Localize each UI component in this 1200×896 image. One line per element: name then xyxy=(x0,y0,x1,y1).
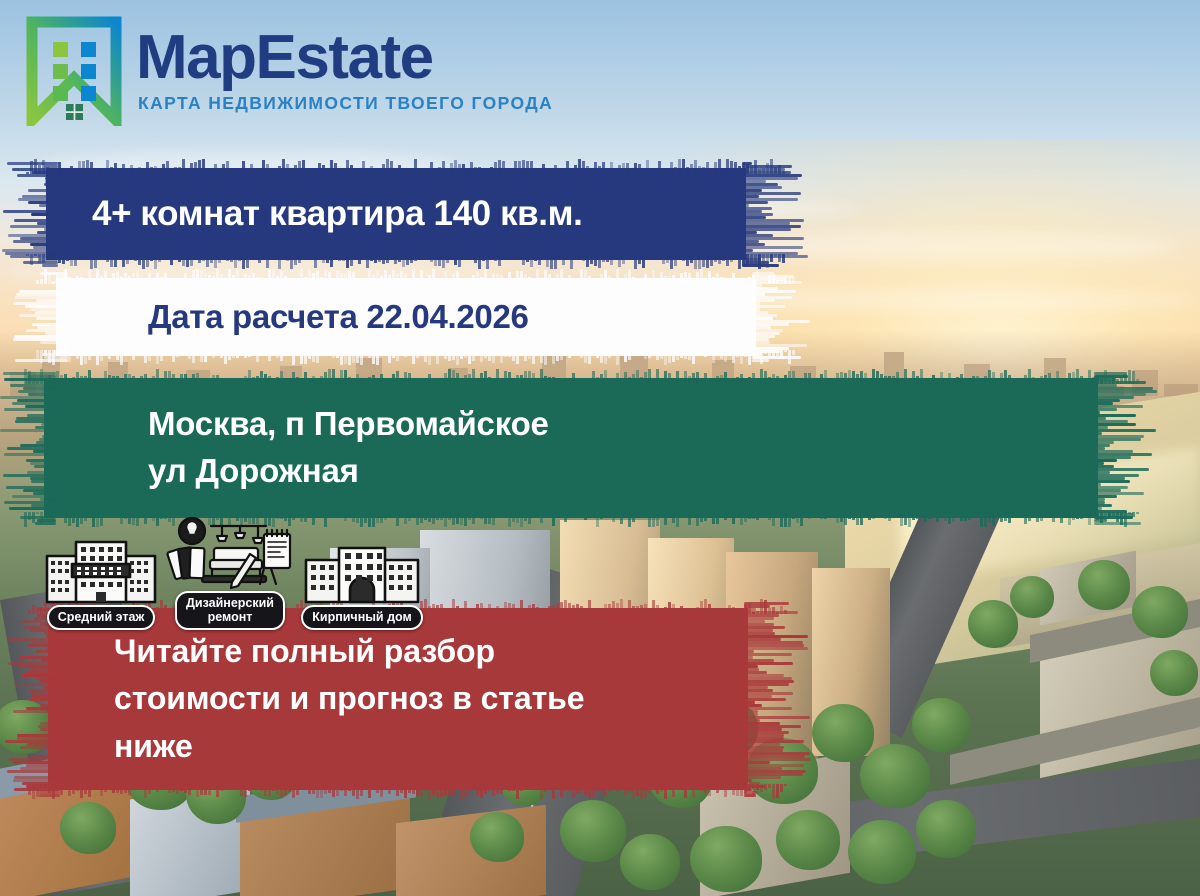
badge-label: Кирпичный дом xyxy=(301,605,422,630)
brush-fray-top xyxy=(36,266,796,284)
banner-text: Дата расчета 22.04.2026 xyxy=(56,298,756,336)
location-line-1: Москва, п Первомайское xyxy=(148,401,1098,448)
banner-call-to-action: Читайте полный разбор стоимости и прогно… xyxy=(48,608,748,790)
brick-building-icon xyxy=(300,534,424,611)
banner-text: 4+ комнат квартира 140 кв.м. xyxy=(46,194,746,234)
brush-fray-top xyxy=(24,366,1138,384)
brush-fray-bottom xyxy=(28,784,788,802)
poster-canvas: MapEstate КАРТА НЕДВИЖИМОСТИ ТВОЕГО ГОРО… xyxy=(0,0,1200,896)
brand-text: MapEstate КАРТА НЕДВИЖИМОСТИ ТВОЕГО ГОРО… xyxy=(136,28,553,114)
badge-house-type: Кирпичный дом xyxy=(300,534,424,630)
brand-title: MapEstate xyxy=(136,28,553,88)
brush-fray-right xyxy=(742,168,812,260)
banner-property-summary: 4+ комнат квартира 140 кв.м. xyxy=(46,168,746,260)
brand-logo[interactable]: MapEstate КАРТА НЕДВИЖИМОСТИ ТВОЕГО ГОРО… xyxy=(26,16,553,126)
brush-fray-right xyxy=(744,608,814,790)
bookmark-building-icon xyxy=(26,16,122,126)
brush-fray-top xyxy=(26,156,786,174)
header: MapEstate КАРТА НЕДВИЖИМОСТИ ТВОЕГО ГОРО… xyxy=(0,0,1200,140)
cta-line-1: Читайте полный разбор xyxy=(114,628,748,675)
brush-fray-right xyxy=(752,278,822,356)
badge-label: Средний этаж xyxy=(47,605,156,630)
location-line-2: ул Дорожная xyxy=(148,448,1098,495)
feature-badges: Средний этаж xyxy=(42,516,424,630)
badge-floor: Средний этаж xyxy=(42,534,160,630)
brand-tagline: КАРТА НЕДВИЖИМОСТИ ТВОЕГО ГОРОДА xyxy=(138,93,553,114)
banner-calculation-date: Дата расчета 22.04.2026 xyxy=(56,278,756,356)
banner-text-block: Москва, п Первомайское ул Дорожная xyxy=(44,401,1098,495)
badge-label: Дизайнерский ремонт xyxy=(175,591,285,630)
banner-location: Москва, п Первомайское ул Дорожная xyxy=(44,378,1098,518)
mid-rise-building-icon xyxy=(42,534,160,611)
badge-renovation: Дизайнерский ремонт xyxy=(166,516,294,630)
interior-design-icon xyxy=(166,516,294,597)
banner-text-block: Читайте полный разбор стоимости и прогно… xyxy=(48,628,748,770)
cta-line-3: ниже xyxy=(114,723,748,770)
brush-fray-right xyxy=(1094,378,1164,518)
cta-line-2: стоимости и прогноз в статье xyxy=(114,675,748,722)
